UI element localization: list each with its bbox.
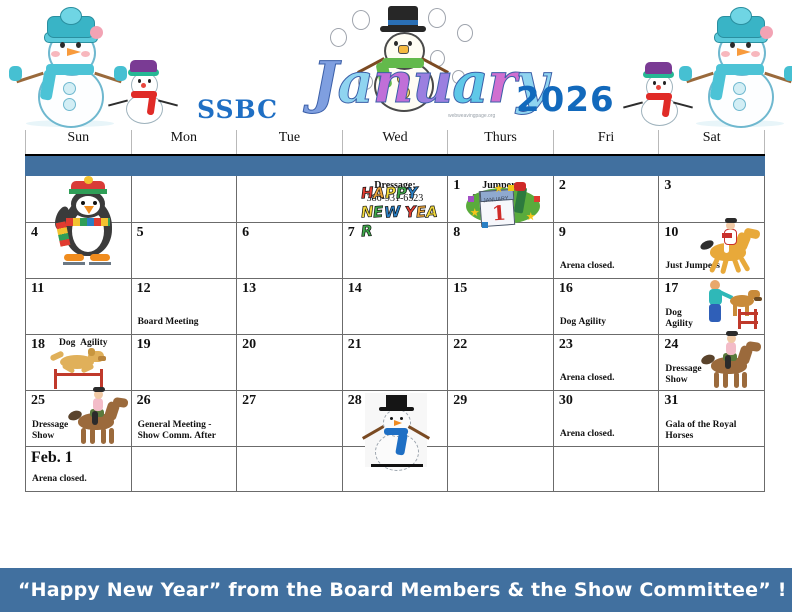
calendar-day-cell-21[interactable]: 21 (342, 335, 448, 391)
blue-divider-bar (26, 155, 765, 176)
event-line: General Meeting - (138, 420, 233, 431)
calendar-day-cell-empty[interactable] (342, 447, 448, 492)
footer-banner: “Happy New Year” from the Board Members … (0, 568, 792, 612)
day-number: 14 (348, 281, 362, 297)
calendar-header: SSBC January webweavingpage.org 2026 (0, 0, 792, 130)
calendar-day-cell-3[interactable]: 3 (659, 176, 765, 223)
day-event-text: Board Meeting (138, 317, 233, 328)
contact-phone: 386-931-6523 (472, 193, 529, 204)
calendar-day-cell-empty[interactable] (131, 447, 237, 492)
calendar-day-cell-4[interactable]: 4 (26, 223, 132, 279)
event-line: Arena closed. (560, 373, 655, 384)
calendar-day-cell-9[interactable]: 9Arena closed. (553, 223, 659, 279)
calendar-day-cell-25[interactable]: 25DressageShow (26, 391, 132, 447)
calendar-day-cell-20[interactable]: 20 (237, 335, 343, 391)
day-number: 1 (453, 178, 460, 194)
day-number: 17 (664, 281, 678, 297)
month-title-letter-2: n (373, 50, 413, 116)
calendar-day-cell-17[interactable]: 17DogAgility (659, 279, 765, 335)
day-number: 6 (242, 225, 249, 241)
event-line: Show (665, 375, 760, 386)
weekday-header-sun: Sun (26, 130, 132, 155)
month-title-letter-3: u (413, 50, 453, 116)
calendar-day-cell-26[interactable]: 26General Meeting -Show Comm. After (131, 391, 237, 447)
club-initials: SSBC (197, 95, 278, 124)
day-number: 16 (559, 281, 573, 297)
day-number: 30 (559, 393, 573, 409)
calendar-day-cell-1[interactable]: Jumper:386-931-65231JANUARY1 (448, 176, 554, 223)
contact-phone: 386-931-6523 (367, 193, 424, 204)
day-event-text: Gala of the RoyalHorses (665, 420, 760, 442)
day-number: 15 (453, 281, 467, 297)
calendar-day-cell-6[interactable]: 6 (237, 223, 343, 279)
blue-divider-cell (26, 155, 765, 176)
day-event-text: Arena closed. (32, 474, 127, 485)
calendar-week-row: 25DressageShow26General Meeting -Show Co… (26, 391, 765, 447)
calendar-day-cell-29[interactable]: 29 (448, 391, 554, 447)
calendar-day-cell-empty[interactable] (659, 447, 765, 492)
weekday-header-wed: Wed (342, 130, 448, 155)
day-event-text: Just Jumpers (665, 261, 760, 272)
snowball-icon (457, 24, 473, 42)
weekday-header-thurs: Thurs (448, 130, 554, 155)
day-number: Feb. 1 (31, 449, 73, 467)
day-number: 23 (559, 337, 573, 353)
day-number: 20 (242, 337, 256, 353)
day-number: 5 (137, 225, 144, 241)
day-number: 22 (453, 337, 467, 353)
event-line: Show (32, 431, 127, 442)
weekday-header-tue: Tue (237, 130, 343, 155)
event-line: Agility (665, 319, 760, 330)
month-title: January (312, 55, 548, 111)
calendar-day-cell-empty[interactable] (237, 447, 343, 492)
calendar-day-cell-18[interactable]: 18Dog Agility (26, 335, 132, 391)
day-number: 18 (31, 337, 45, 353)
day-number: 21 (348, 337, 362, 353)
snowman-teal-large-left-icon (20, 8, 120, 126)
contact-label: Jumper: (482, 180, 519, 191)
calendar-day-cell-27[interactable]: 27 (237, 391, 343, 447)
day-number: 11 (31, 281, 44, 297)
year-label: 2026 (516, 80, 615, 120)
calendar-day-cell-empty[interactable] (26, 176, 132, 223)
month-title-letter-4: a (452, 50, 487, 116)
event-line: Horses (665, 431, 760, 442)
day-number: 19 (137, 337, 151, 353)
contact-label: Dressage: (374, 180, 415, 191)
day-event-text: Arena closed. (560, 373, 655, 384)
calendar-day-cell-16[interactable]: 16Dog Agility (553, 279, 659, 335)
event-line: Dog Agility (560, 317, 655, 328)
calendar-week-row: 456789Arena closed.10Just Jumpers (26, 223, 765, 279)
day-event-text: General Meeting -Show Comm. After (138, 420, 233, 442)
calendar-day-cell-empty[interactable] (237, 176, 343, 223)
day-number: 24 (664, 337, 678, 353)
day-number: 9 (559, 225, 566, 241)
day-event-text: Dog Agility (560, 317, 655, 328)
event-line: Gala of the Royal (665, 420, 760, 431)
footer-message: “Happy New Year” from the Board Members … (18, 579, 787, 601)
day-number: 8 (453, 225, 460, 241)
event-line: Arena closed. (560, 261, 655, 272)
day-number: 12 (137, 281, 151, 297)
calendar-week-row: 1112Board Meeting13141516Dog Agility17Do… (26, 279, 765, 335)
calendar-day-cell-23[interactable]: 23Arena closed. (553, 335, 659, 391)
calendar-week-row: Dressage:386-931-6523HAPPYNEW YEARJumper… (26, 176, 765, 223)
day-number: 28 (348, 393, 362, 409)
day-event-text: Arena closed. (560, 429, 655, 440)
event-line: Just Jumpers (665, 261, 760, 272)
day-number: 4 (31, 225, 38, 241)
calendar-week-row: 18Dog Agility1920212223Arena closed.24Dr… (26, 335, 765, 391)
calendar-day-cell-5[interactable]: 5 (131, 223, 237, 279)
event-line: Arena closed. (32, 474, 127, 485)
month-title-letter-5: r (488, 50, 517, 116)
weekday-header-fri: Fri (553, 130, 659, 155)
calendar-day-cell-2[interactable]: 2 (553, 176, 659, 223)
day-event-text: Arena closed. (560, 261, 655, 272)
day-event-text: DressageShow (665, 364, 760, 386)
contact-jumper: Jumper:386-931-6523 (448, 179, 553, 205)
calendar-day-cell-22[interactable]: 22 (448, 335, 554, 391)
calendar-day-cell-empty[interactable]: Dressage:386-931-6523HAPPYNEW YEAR (342, 176, 448, 223)
day-number: 2 (559, 178, 566, 194)
event-line: Dressage (32, 420, 127, 431)
month-title-letter-0: J (312, 50, 338, 116)
event-line: Dog (665, 308, 760, 319)
dog-jumping-bar-icon (48, 351, 114, 391)
day-number: 26 (137, 393, 151, 409)
calendar-day-cell-7[interactable]: 7 (342, 223, 448, 279)
snowman-small-left-icon (113, 58, 173, 124)
day-number: 10 (664, 225, 678, 241)
calendar-day-cell-10[interactable]: 10Just Jumpers (659, 223, 765, 279)
calendar-day-cell-empty[interactable] (131, 176, 237, 223)
event-line: Dog Agility (59, 338, 127, 349)
contact-dressage: Dressage:386-931-6523 (343, 179, 448, 205)
day-number: 3 (664, 178, 671, 194)
day-number: 31 (664, 393, 678, 409)
weekday-header-row: Sun Mon Tue Wed Thurs Fri Sat (26, 130, 765, 155)
calendar-day-cell-13[interactable]: 13 (237, 279, 343, 335)
calendar-day-cell-14[interactable]: 14 (342, 279, 448, 335)
calendar-week-row: Feb. 1Arena closed. (26, 447, 765, 492)
weekday-header-mon: Mon (131, 130, 237, 155)
calendar-day-cell-8[interactable]: 8 (448, 223, 554, 279)
snowball-icon (330, 28, 347, 47)
calendar-day-cell-30[interactable]: 30Arena closed. (553, 391, 659, 447)
calendar-grid: Sun Mon Tue Wed Thurs Fri Sat Dressage:3… (25, 130, 765, 492)
event-line: Arena closed. (560, 429, 655, 440)
month-title-letter-1: a (338, 50, 373, 116)
event-line: Board Meeting (138, 317, 233, 328)
calendar-day-cell-15[interactable]: 15 (448, 279, 554, 335)
event-line: Show Comm. After (138, 431, 233, 442)
calendar-day-cell-31[interactable]: 31Gala of the RoyalHorses (659, 391, 765, 447)
day-event-text: Dog Agility (59, 338, 127, 349)
day-event-text: DogAgility (665, 308, 760, 330)
calendar-day-cell-28[interactable]: 28 (342, 391, 448, 447)
day-number: 27 (242, 393, 256, 409)
day-number: 29 (453, 393, 467, 409)
day-number: 13 (242, 281, 256, 297)
calendar-day-cell-11[interactable]: 11 (26, 279, 132, 335)
calendar-day-cell-19[interactable]: 19 (131, 335, 237, 391)
calendar-day-cell-12[interactable]: 12Board Meeting (131, 279, 237, 335)
event-line: Dressage (665, 364, 760, 375)
weekday-header-sat: Sat (659, 130, 765, 155)
calendar-day-cell-empty[interactable] (448, 447, 554, 492)
snowman-teal-large-right-icon (690, 8, 790, 126)
calendar-day-cell-empty[interactable] (553, 447, 659, 492)
day-event-text: DressageShow (32, 420, 127, 442)
day-number: 7 (348, 225, 355, 241)
calendar-day-cell-feb-1[interactable]: Feb. 1Arena closed. (26, 447, 132, 492)
day-number: 25 (31, 393, 45, 409)
calendar-day-cell-24[interactable]: 24DressageShow (659, 335, 765, 391)
art-credit: webweavingpage.org (448, 113, 495, 119)
